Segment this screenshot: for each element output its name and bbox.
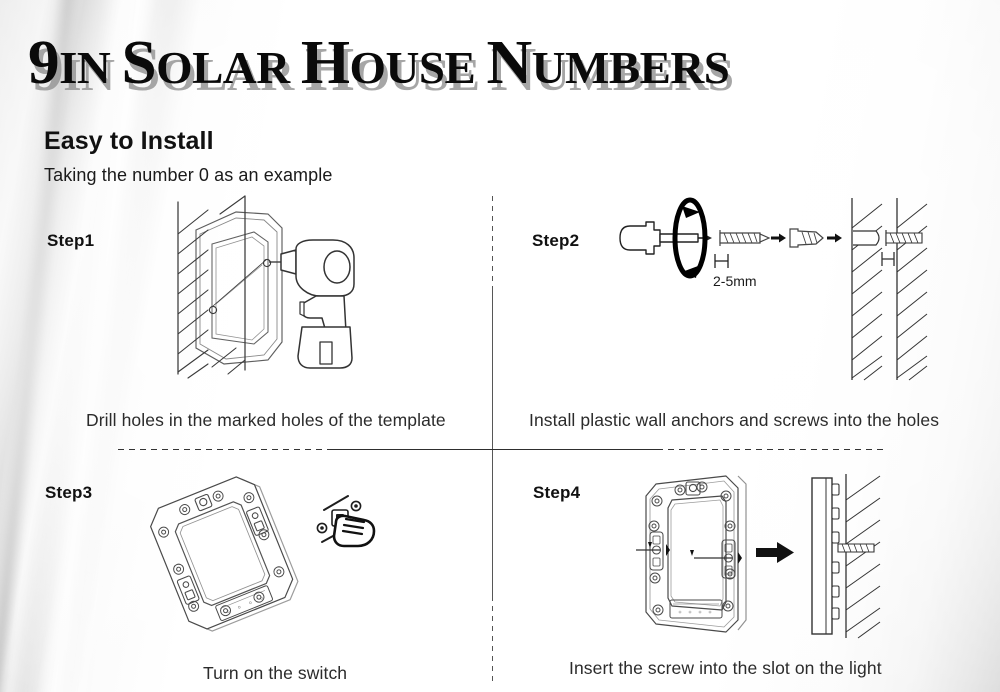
title-part-7: UMBERS <box>532 42 730 93</box>
arrow-right-icon <box>756 542 794 563</box>
step-4-illustration <box>630 470 910 650</box>
title-part-1: IN <box>59 42 121 93</box>
page-title: 9IN SOLAR HOUSE NUMBERS <box>28 32 1000 99</box>
step-2-caption: Install plastic wall anchors and screws … <box>529 410 939 431</box>
step-2-illustration: 2-5mm <box>620 198 950 398</box>
title-part-0: 9 <box>28 29 59 97</box>
step-2-label: Step2 <box>532 231 579 251</box>
title-part-4: H <box>301 29 350 97</box>
step-1-label: Step1 <box>47 231 94 251</box>
step-4-caption: Insert the screw into the slot on the li… <box>569 658 882 679</box>
step-3-illustration <box>150 470 410 645</box>
dimension-label: 2-5mm <box>713 273 757 289</box>
step-3-label: Step3 <box>45 483 92 503</box>
section-subtitle: Easy to Install <box>44 127 214 156</box>
step-1-illustration <box>150 192 430 407</box>
step-1-caption: Drill holes in the marked holes of the t… <box>86 410 446 431</box>
horizontal-divider-solid <box>330 449 660 450</box>
vertical-divider-solid <box>492 288 493 598</box>
step-4-label: Step4 <box>533 483 580 503</box>
title-part-5: OUSE <box>350 42 487 93</box>
step-3-caption: Turn on the switch <box>203 663 347 684</box>
hand-press-icon <box>317 496 374 546</box>
title-part-2: S <box>121 29 156 97</box>
section-note: Taking the number 0 as an example <box>44 165 332 186</box>
title-part-3: OLAR <box>156 42 301 93</box>
infographic-page: 9IN SOLAR HOUSE NUMBERS Easy to Install … <box>0 0 1000 692</box>
title-part-6: N <box>487 29 532 97</box>
